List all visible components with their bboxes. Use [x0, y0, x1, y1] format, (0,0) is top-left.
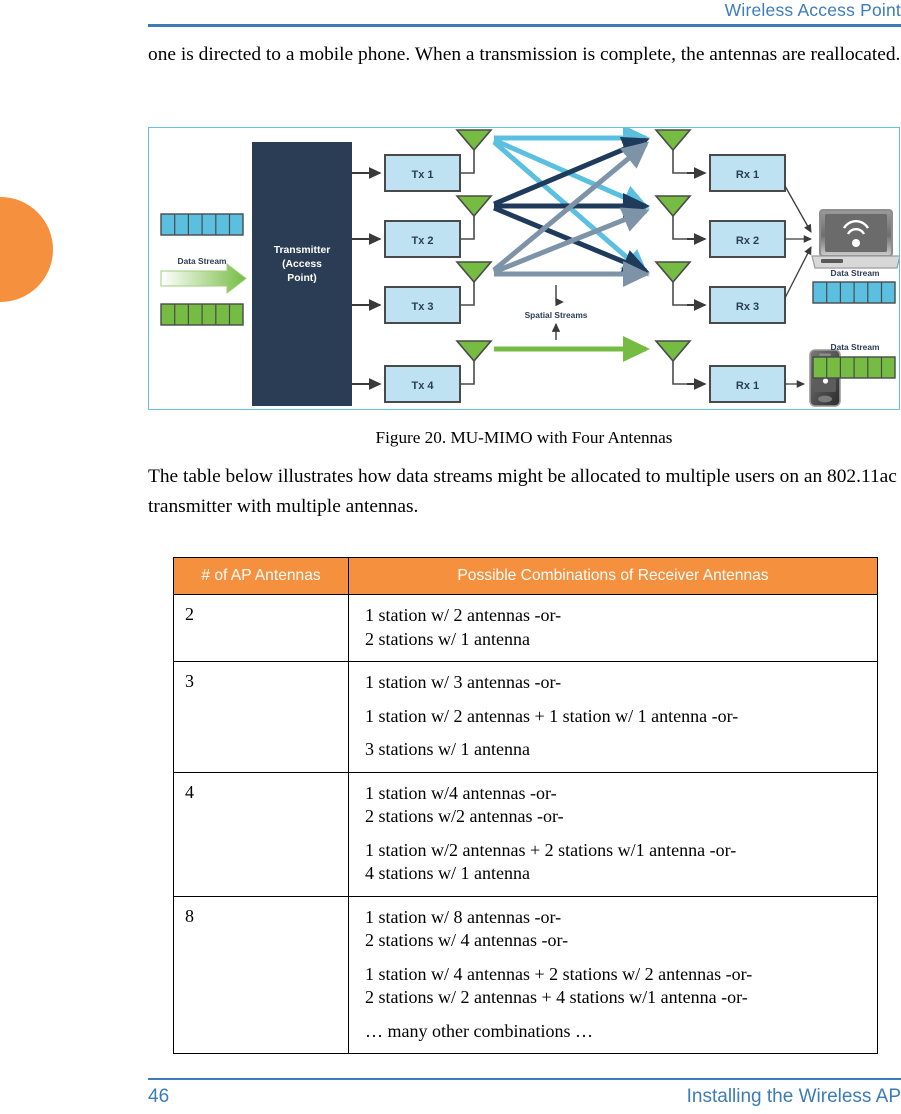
- combination-line: 2 stations w/ 4 antennas -or-: [365, 929, 877, 953]
- table-row: 31 station w/ 3 antennas -or-1 station w…: [174, 662, 878, 773]
- rx-antenna-1: [656, 130, 690, 173]
- combination-line: 1 station w/ 2 antennas + 1 station w/ 1…: [365, 705, 877, 729]
- transmitter-label-line3: Point): [287, 273, 316, 284]
- combination-line: 4 stations w/ 1 antenna: [365, 862, 877, 886]
- combination-line: 1 station w/ 8 antennas -or-: [365, 906, 877, 930]
- combination-line: 2 stations w/2 antennas -or-: [365, 805, 877, 829]
- rx-block-1: Rx 1: [710, 155, 785, 191]
- table-cell-antenna-count: 4: [174, 772, 349, 896]
- spatial-streams-annotation: Spatial Streams: [525, 285, 588, 340]
- combination-line: 1 station w/ 3 antennas -or-: [365, 671, 877, 695]
- rx-block-2: Rx 2: [710, 221, 785, 257]
- laptop-data-stream-label: Data Stream: [831, 268, 880, 278]
- tx-antenna-3: [457, 262, 491, 305]
- footer-section-title: Installing the Wireless AP: [148, 1086, 901, 1108]
- table-header-ap-antennas: # of AP Antennas: [174, 558, 349, 595]
- rx-block-3-label: Rx 3: [736, 301, 759, 313]
- table-cell-antenna-count: 3: [174, 662, 349, 773]
- tx-antenna-1: [457, 130, 491, 173]
- rx-antenna-4: [656, 341, 690, 384]
- rx-antenna-2: [656, 196, 690, 239]
- antenna-combinations-table: # of AP Antennas Possible Combinations o…: [173, 557, 878, 1054]
- tx-block-4-label: Tx 4: [411, 380, 434, 392]
- laptop-device-icon: [812, 210, 899, 268]
- footer-rule: [148, 1078, 901, 1080]
- rx-block-3: Rx 3: [710, 287, 785, 323]
- table-cell-combinations: 1 station w/4 antennas -or-2 stations w/…: [349, 772, 878, 896]
- tx-feed-arrows: [352, 173, 380, 384]
- combination-line: 2 stations w/ 2 antennas + 4 stations w/…: [365, 986, 877, 1010]
- spatial-streams-label: Spatial Streams: [525, 310, 588, 320]
- combination-line: 1 station w/ 2 antennas -or-: [365, 604, 877, 628]
- body-paragraph-middle: The table below illustrates how data str…: [148, 462, 901, 522]
- transmitter-label-line2: (Access: [282, 259, 322, 270]
- combination-line: 1 station w/ 4 antennas + 2 stations w/ …: [365, 963, 877, 987]
- tx-block-2: Tx 2: [385, 221, 460, 257]
- source-data-stream-green: [161, 304, 243, 325]
- table-cell-antenna-count: 2: [174, 595, 349, 662]
- figure-caption: Figure 20. MU-MIMO with Four Antennas: [148, 428, 900, 448]
- rx-block-1-label: Rx 1: [736, 169, 759, 181]
- tx-block-2-label: Tx 2: [411, 235, 433, 247]
- rx-block-4-label: Rx 1: [736, 380, 759, 392]
- tx-antenna-4: [457, 341, 491, 384]
- combination-line: 1 station w/2 antennas + 2 stations w/1 …: [365, 839, 877, 863]
- phone-data-stream-blocks: [813, 357, 895, 378]
- tx-block-1: Tx 1: [385, 155, 460, 191]
- combination-line: … many other combinations …: [365, 1020, 877, 1044]
- figure-input-data-stream-label: Data Stream: [178, 256, 227, 266]
- running-head-rule: [148, 24, 901, 27]
- tx-block-3-label: Tx 3: [411, 301, 433, 313]
- rx-antenna-3: [656, 262, 690, 305]
- table-header-combinations: Possible Combinations of Receiver Antenn…: [349, 558, 878, 595]
- combination-line: 2 stations w/ 1 antenna: [365, 628, 877, 652]
- table-row: 21 station w/ 2 antennas -or-2 stations …: [174, 595, 878, 662]
- tx-block-4: Tx 4: [385, 366, 460, 402]
- body-paragraph-top: one is directed to a mobile phone. When …: [148, 40, 901, 70]
- table-row: 81 station w/ 8 antennas -or-2 stations …: [174, 896, 878, 1054]
- transmitter-label-line1: Transmitter: [274, 245, 331, 256]
- rx-to-laptop-arrows: [785, 186, 811, 384]
- table-header-row: # of AP Antennas Possible Combinations o…: [174, 558, 878, 595]
- page-edge-tab: [0, 197, 53, 302]
- rx-feed-arrows: [687, 173, 705, 384]
- combination-line: 3 stations w/ 1 antenna: [365, 738, 877, 762]
- running-head: Wireless Access Point: [148, 0, 901, 21]
- source-data-stream-blue: [161, 214, 243, 235]
- figure-diagram: Data Stream Transmitter (Access Point): [149, 128, 899, 409]
- tx-block-1-label: Tx 1: [411, 169, 433, 181]
- transmitter-access-point-block: Transmitter (Access Point): [252, 142, 352, 406]
- table-cell-combinations: 1 station w/ 3 antennas -or-1 station w/…: [349, 662, 878, 773]
- data-stream-arrow: [161, 264, 246, 293]
- figure-mu-mimo: Data Stream Transmitter (Access Point): [148, 127, 900, 410]
- laptop-data-stream-blocks: [813, 282, 895, 303]
- table-cell-combinations: 1 station w/ 2 antennas -or-2 stations w…: [349, 595, 878, 662]
- combination-line: 1 station w/4 antennas -or-: [365, 782, 877, 806]
- rx-block-4: Rx 1: [710, 366, 785, 402]
- table-cell-combinations: 1 station w/ 8 antennas -or-2 stations w…: [349, 896, 878, 1054]
- table-row: 41 station w/4 antennas -or-2 stations w…: [174, 772, 878, 896]
- rx-block-2-label: Rx 2: [736, 235, 759, 247]
- tx-block-3: Tx 3: [385, 287, 460, 323]
- tx-antenna-2: [457, 196, 491, 239]
- table-cell-antenna-count: 8: [174, 896, 349, 1054]
- phone-data-stream-label: Data Stream: [831, 342, 880, 352]
